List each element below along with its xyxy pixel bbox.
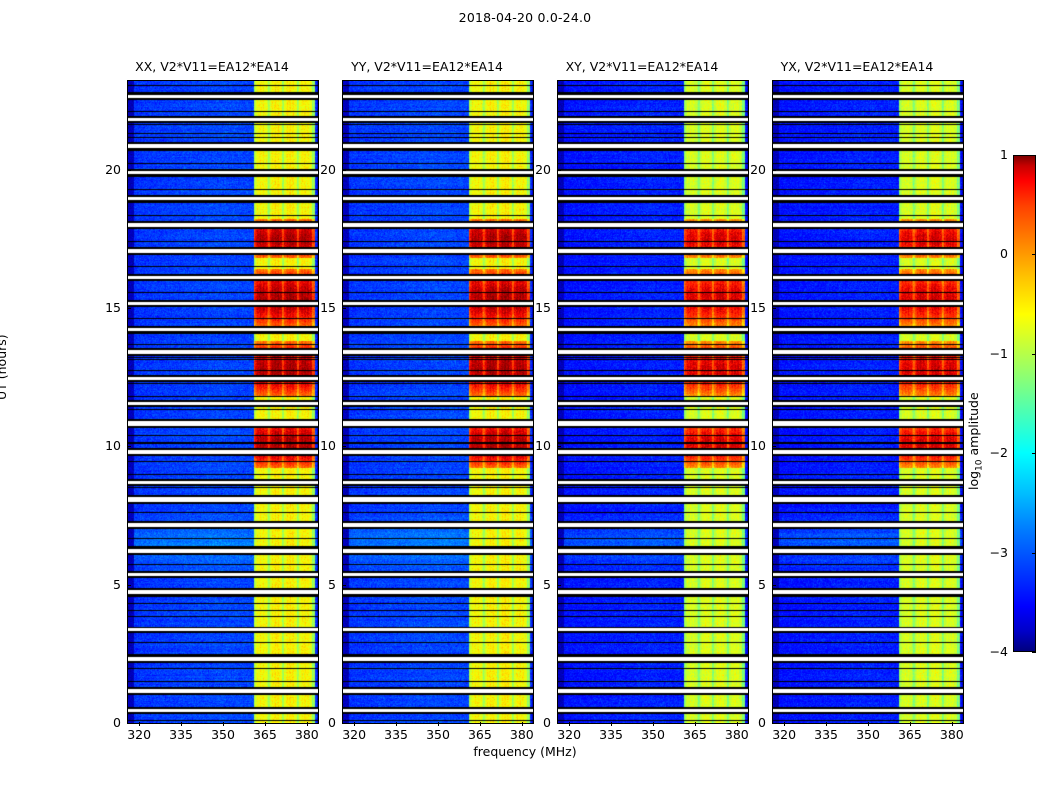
y-tick-label: 10 (726, 438, 766, 453)
x-tick-label: 320 (546, 727, 592, 742)
x-tick-label: 365 (887, 727, 933, 742)
panel-title-yy: YY, V2*V11=EA12*EA14 (328, 59, 526, 74)
x-tick-label: 365 (457, 727, 503, 742)
y-tick-label: 5 (81, 577, 121, 592)
colorbar-tick-label: 1 (972, 147, 1008, 162)
panel-title-xy: XY, V2*V11=EA12*EA14 (543, 59, 741, 74)
x-tick-label: 335 (588, 727, 634, 742)
y-tick (342, 170, 346, 171)
y-tick (557, 585, 561, 586)
colorbar-tick-label: −3 (972, 545, 1008, 560)
y-tick (772, 723, 776, 724)
heatmap-image-xy (558, 81, 748, 723)
heatmap-panel-xy[interactable] (557, 80, 749, 724)
y-tick (772, 170, 776, 171)
x-tick (868, 722, 869, 726)
y-tick (342, 446, 346, 447)
x-axis-label: frequency (MHz) (0, 744, 1050, 759)
heatmap-panel-xx[interactable] (127, 80, 319, 724)
colorbar-tick-label: −1 (972, 346, 1008, 361)
x-tick-label: 350 (630, 727, 676, 742)
y-tick-label: 20 (81, 162, 121, 177)
x-tick-label: 365 (242, 727, 288, 742)
y-tick (342, 585, 346, 586)
y-tick-label: 0 (726, 715, 766, 730)
x-tick (569, 722, 570, 726)
x-tick (265, 722, 266, 726)
y-tick (342, 308, 346, 309)
colorbar-tick (1032, 354, 1036, 355)
x-tick (181, 722, 182, 726)
colorbar-tick (1032, 553, 1036, 554)
y-tick-label: 10 (81, 438, 121, 453)
colorbar-tick-label: 0 (972, 246, 1008, 261)
x-tick (354, 722, 355, 726)
x-tick (438, 722, 439, 726)
x-tick (952, 722, 953, 726)
x-tick (139, 722, 140, 726)
heatmap-image-xx (128, 81, 318, 723)
colorbar-label-tail: amplitude (966, 392, 981, 459)
y-tick-label: 5 (296, 577, 336, 592)
x-tick-label: 365 (672, 727, 718, 742)
x-tick-label: 380 (929, 727, 975, 742)
x-tick (826, 722, 827, 726)
y-tick (772, 446, 776, 447)
x-tick-label: 320 (761, 727, 807, 742)
heatmap-panel-yy[interactable] (342, 80, 534, 724)
heatmap-image-yx (773, 81, 963, 723)
x-tick-label: 320 (331, 727, 377, 742)
y-tick-label: 20 (511, 162, 551, 177)
y-tick-label: 0 (296, 715, 336, 730)
y-tick-label: 0 (511, 715, 551, 730)
x-tick-label: 350 (845, 727, 891, 742)
x-tick (784, 722, 785, 726)
heatmap-image-yy (343, 81, 533, 723)
y-tick (557, 170, 561, 171)
x-tick (653, 722, 654, 726)
y-tick-label: 5 (511, 577, 551, 592)
x-tick (223, 722, 224, 726)
y-tick-label: 10 (511, 438, 551, 453)
y-tick-label: 20 (296, 162, 336, 177)
x-tick (910, 722, 911, 726)
y-tick (127, 585, 131, 586)
y-tick (772, 585, 776, 586)
y-tick (127, 446, 131, 447)
colorbar-label: log10 amplitude (966, 392, 985, 490)
x-tick-label: 350 (200, 727, 246, 742)
heatmap-panel-yx[interactable] (772, 80, 964, 724)
colorbar-tick (1032, 453, 1036, 454)
y-tick-label: 15 (511, 300, 551, 315)
y-tick (127, 170, 131, 171)
figure-suptitle: 2018-04-20 0.0-24.0 (0, 10, 1050, 25)
colorbar-tick (1032, 155, 1036, 156)
y-tick-label: 15 (726, 300, 766, 315)
x-tick-label: 335 (373, 727, 419, 742)
x-tick-label: 350 (415, 727, 461, 742)
y-tick (127, 723, 131, 724)
y-tick-label: 10 (296, 438, 336, 453)
colorbar-tick (1032, 652, 1036, 653)
panel-title-xx: XX, V2*V11=EA12*EA14 (113, 59, 311, 74)
y-tick-label: 15 (296, 300, 336, 315)
x-tick-label: 320 (116, 727, 162, 742)
x-tick-label: 335 (803, 727, 849, 742)
y-tick (772, 308, 776, 309)
x-tick-label: 335 (158, 727, 204, 742)
x-tick (695, 722, 696, 726)
panel-title-yx: YX, V2*V11=EA12*EA14 (758, 59, 956, 74)
x-tick (480, 722, 481, 726)
colorbar[interactable] (1013, 155, 1036, 652)
y-tick-label: 15 (81, 300, 121, 315)
y-tick-label: 0 (81, 715, 121, 730)
colorbar-label-sub: 10 (975, 459, 985, 470)
y-tick (557, 308, 561, 309)
colorbar-tick-label: −4 (972, 644, 1008, 659)
y-tick (342, 723, 346, 724)
y-tick (557, 446, 561, 447)
x-tick (396, 722, 397, 726)
y-tick-label: 20 (726, 162, 766, 177)
figure-canvas: 2018-04-20 0.0-24.0 XX, V2*V11=EA12*EA14… (0, 0, 1050, 800)
colorbar-label-main: log (966, 471, 981, 490)
y-tick (557, 723, 561, 724)
y-axis-label: UT (hours) (0, 334, 9, 400)
colorbar-tick (1032, 254, 1036, 255)
y-tick-label: 5 (726, 577, 766, 592)
y-tick (127, 308, 131, 309)
x-tick (611, 722, 612, 726)
